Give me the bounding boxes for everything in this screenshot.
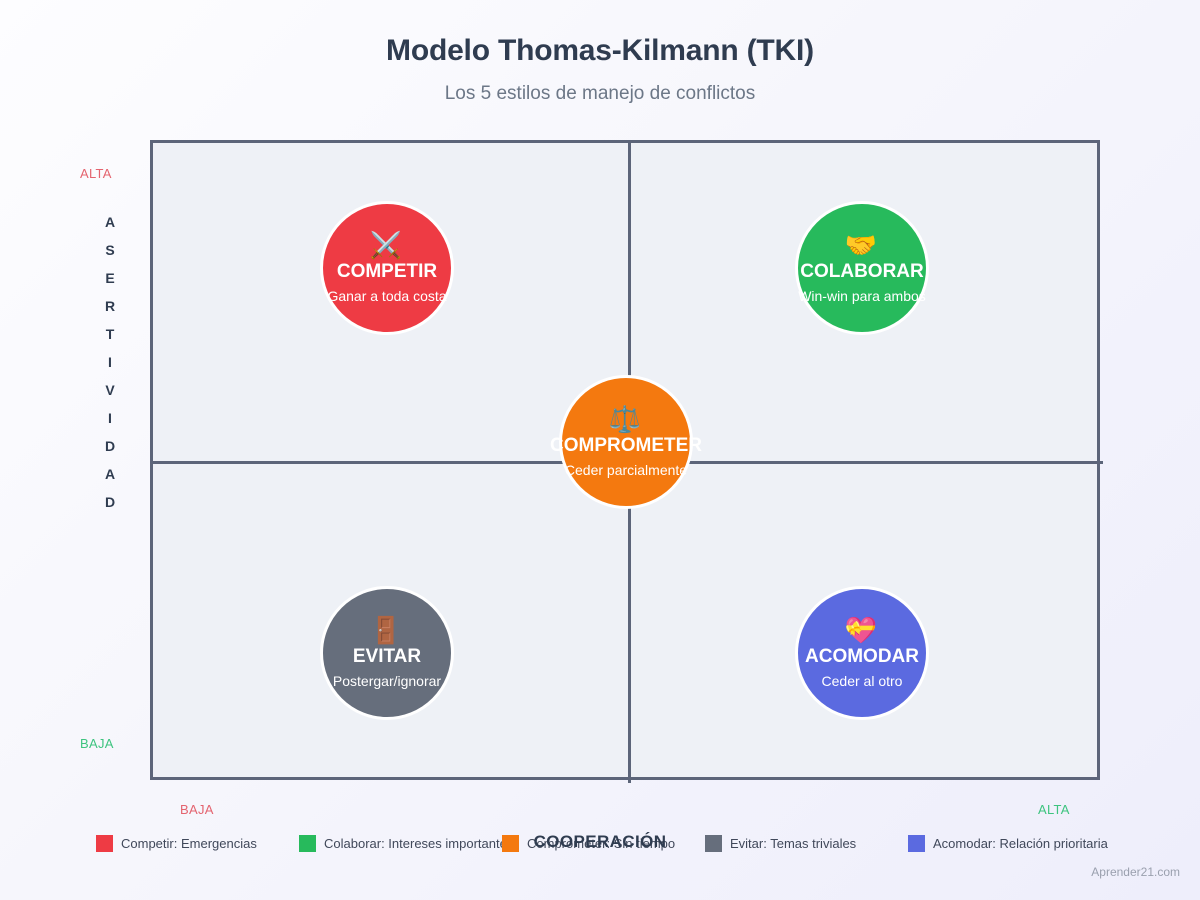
style-desc-competir: Ganar a toda costa <box>327 286 446 306</box>
y-axis-title-letter: D <box>96 488 124 516</box>
y-axis-title-letter: E <box>96 264 124 292</box>
page-subtitle: Los 5 estilos de manejo de conflictos <box>0 83 1200 105</box>
y-axis-low-label: BAJA <box>80 736 114 751</box>
handshake-emoji: 🤝 <box>845 230 879 260</box>
crossed-swords-emoji: ⚔️ <box>370 230 404 260</box>
y-axis-title-letter: S <box>96 236 124 264</box>
y-axis-title-letter: A <box>96 208 124 236</box>
style-name-colaborar: COLABORAR <box>800 260 924 284</box>
style-name-acomodar: ACOMODAR <box>805 645 919 669</box>
style-desc-comprometer: Ceder parcialmente <box>565 460 687 480</box>
y-axis-title-letter: R <box>96 292 124 320</box>
style-name-comprometer: COMPROMETER <box>550 434 702 458</box>
y-axis-title-letter: T <box>96 320 124 348</box>
style-bubble-competir[interactable]: ⚔️ COMPETIR Ganar a toda costa <box>320 201 454 335</box>
y-axis-title-letter: D <box>96 432 124 460</box>
style-name-evitar: EVITAR <box>353 645 421 669</box>
style-name-competir: COMPETIR <box>337 260 437 284</box>
style-bubble-acomodar[interactable]: 💝 ACOMODAR Ceder al otro <box>795 586 929 720</box>
style-desc-colaborar: Win-win para ambos <box>798 286 926 306</box>
heart-with-ribbon-emoji: 💝 <box>845 615 879 645</box>
style-bubble-colaborar[interactable]: 🤝 COLABORAR Win-win para ambos <box>795 201 929 335</box>
x-axis-high-label: ALTA <box>1038 802 1070 817</box>
y-axis-high-label: ALTA <box>80 166 112 181</box>
y-axis-title: ASERTIVIDAD <box>96 208 124 516</box>
door-emoji: 🚪 <box>370 615 404 645</box>
y-axis-title-letter: A <box>96 460 124 488</box>
watermark: Aprender21.com <box>1091 865 1180 879</box>
x-axis-title: COOPERACIÓN <box>0 832 1200 852</box>
style-bubble-comprometer[interactable]: ⚖️ COMPROMETER Ceder parcialmente <box>559 375 693 509</box>
style-desc-acomodar: Ceder al otro <box>822 671 903 691</box>
page-title: Modelo Thomas-Kilmann (TKI) <box>0 34 1200 68</box>
style-bubble-evitar[interactable]: 🚪 EVITAR Postergar/ignorar <box>320 586 454 720</box>
balance-scale-emoji: ⚖️ <box>609 404 643 434</box>
y-axis-title-letter: I <box>96 348 124 376</box>
style-desc-evitar: Postergar/ignorar <box>333 671 441 691</box>
y-axis-title-letter: I <box>96 404 124 432</box>
y-axis-title-letter: V <box>96 376 124 404</box>
x-axis-low-label: BAJA <box>180 802 214 817</box>
